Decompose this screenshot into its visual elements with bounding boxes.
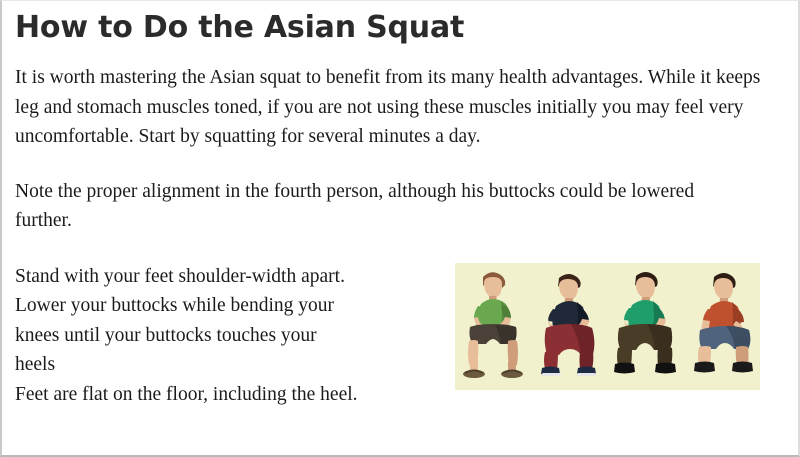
steps-list: Stand with your feet shoulder-width apar…	[15, 262, 445, 410]
document-page: How to Do the Asian Squat It is worth ma…	[0, 0, 800, 457]
step-line: Lower your buttocks while bending your	[15, 291, 445, 321]
step-line: heels	[15, 350, 445, 380]
steps-and-illustration-row: Stand with your feet shoulder-width apar…	[15, 236, 790, 422]
paragraph-alignment-note: Note the proper alignment in the fourth …	[15, 152, 755, 236]
step-line: Feet are flat on the floor, including th…	[15, 380, 445, 410]
four-men-squatting-illustration	[455, 263, 760, 390]
figure-3-teal-shirt	[614, 272, 676, 374]
document-content: How to Do the Asian Squat It is worth ma…	[15, 1, 790, 455]
shoe-left	[541, 366, 561, 376]
figure-1-green-shirt	[463, 272, 523, 378]
figure-4-rust-shirt	[694, 273, 753, 373]
figure-2-navy-shirt	[541, 274, 596, 376]
shoe-right	[577, 366, 596, 376]
page-title: How to Do the Asian Squat	[15, 1, 790, 46]
paragraph-intro: It is worth mastering the Asian squat to…	[15, 46, 777, 152]
sandal-right	[501, 370, 523, 378]
step-line: Stand with your feet shoulder-width apar…	[15, 262, 445, 292]
sandal-left	[463, 370, 485, 378]
step-line: knees until your buttocks touches your	[15, 321, 445, 351]
